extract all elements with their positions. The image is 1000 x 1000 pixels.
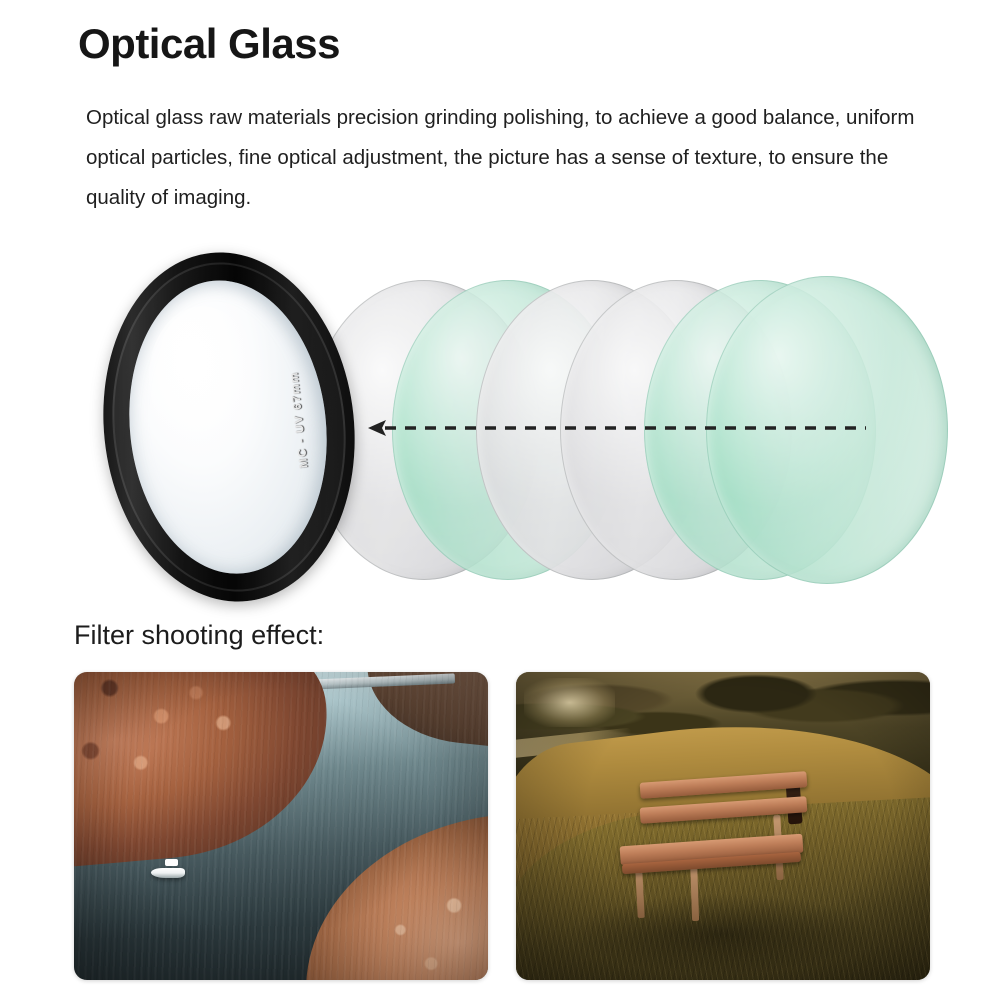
page-title: Optical Glass (78, 22, 340, 66)
sample-photo-river (74, 672, 488, 980)
photo-vignette (516, 672, 930, 980)
glass-sheen (141, 300, 270, 464)
optical-glass-illustration: MC - UV 67mm (0, 248, 1000, 608)
photo-vignette (74, 672, 488, 980)
uv-filter-ring: MC - UV 67mm (86, 240, 371, 614)
direction-arrow-icon (366, 416, 876, 440)
sample-photo-bench (516, 672, 930, 980)
page-description: Optical glass raw materials precision gr… (86, 98, 916, 218)
bench-photo-content (516, 672, 930, 980)
river-photo-content (74, 672, 488, 980)
filter-effect-label: Filter shooting effect: (74, 620, 324, 651)
